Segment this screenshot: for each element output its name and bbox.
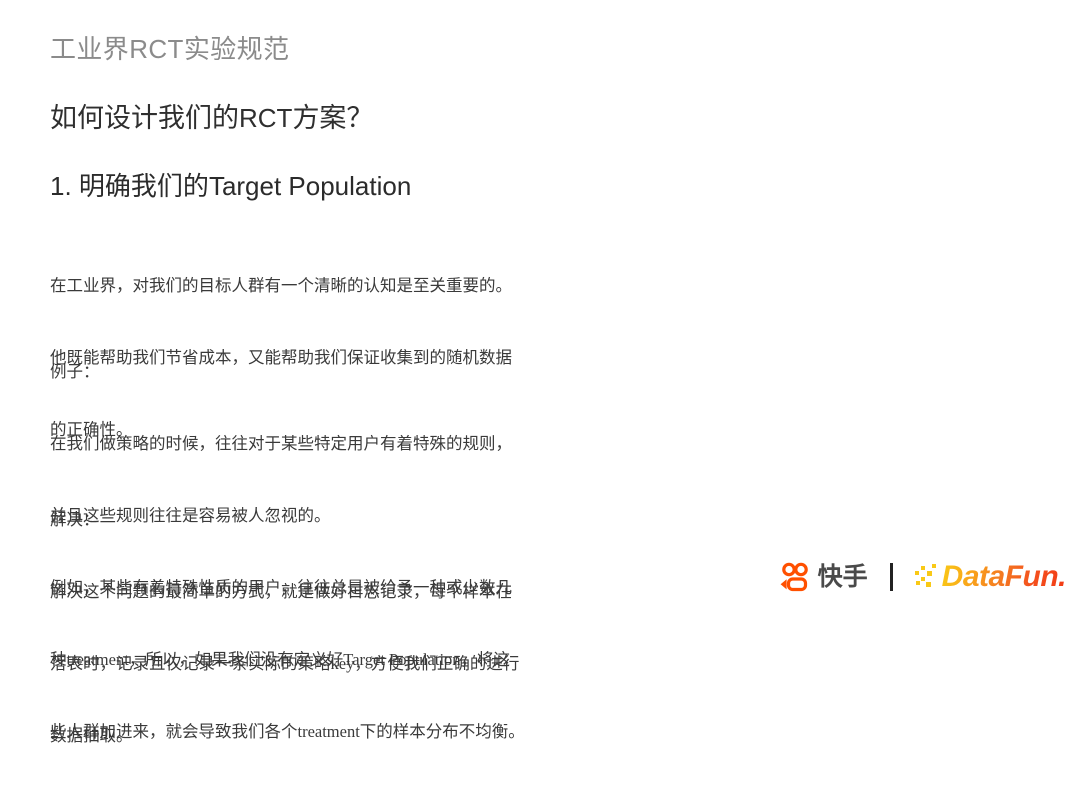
subtitle-latin-term: RCT — [239, 103, 292, 133]
datafun-logo: DataFun. — [915, 562, 1066, 592]
datafun-pixel-dots-icon — [915, 563, 939, 591]
body-line: 解决这个问题的最简单的方式，就是做好日志记录，每个样本在 — [50, 580, 610, 604]
footer-logo-bar: 快手 DataFun. — [778, 554, 1066, 600]
subtitle-cjk-suffix: 方案？ — [292, 103, 373, 133]
datafun-wordmark: DataFun. — [942, 562, 1066, 592]
slide-subtitle: 如何设计我们的RCT方案？ — [50, 100, 373, 136]
body-line: 数据抽取。 — [50, 724, 610, 748]
body-line: 在工业界，对我们的目标人群有一个清晰的认知是至关重要的。 — [50, 274, 610, 298]
section-heading-latin: Target Population — [209, 171, 411, 201]
kuaishou-logo: 快手 — [778, 562, 868, 592]
body-line: 落表时，记录且仅记录一条实际的策略key，方便我们正确的进行 — [50, 652, 610, 676]
page-title: 工业界RCT实验规范 — [50, 32, 289, 66]
slide-canvas: 工业界RCT实验规范 如何设计我们的RCT方案？ 1. 明确我们的Target … — [0, 0, 1080, 608]
logo-divider — [890, 563, 893, 591]
paragraph-solution: 解决： 解决这个问题的最简单的方式，就是做好日志记录，每个样本在 落表时，记录且… — [50, 460, 610, 796]
body-line: 在我们做策略的时候，往往对于某些特定用户有着特殊的规则， — [50, 432, 610, 456]
kuaishou-camera-icon — [778, 562, 812, 592]
kuaishou-wordmark: 快手 — [818, 565, 868, 590]
subtitle-cjk-prefix: 如何设计我们的 — [50, 103, 239, 133]
paragraph-example-label: 例子： — [50, 360, 610, 384]
paragraph-solution-label: 解决： — [50, 508, 610, 532]
section-number: 1. — [50, 171, 79, 201]
section-heading: 1. 明确我们的Target Population — [50, 168, 411, 205]
section-heading-cjk: 明确我们的 — [79, 172, 209, 201]
